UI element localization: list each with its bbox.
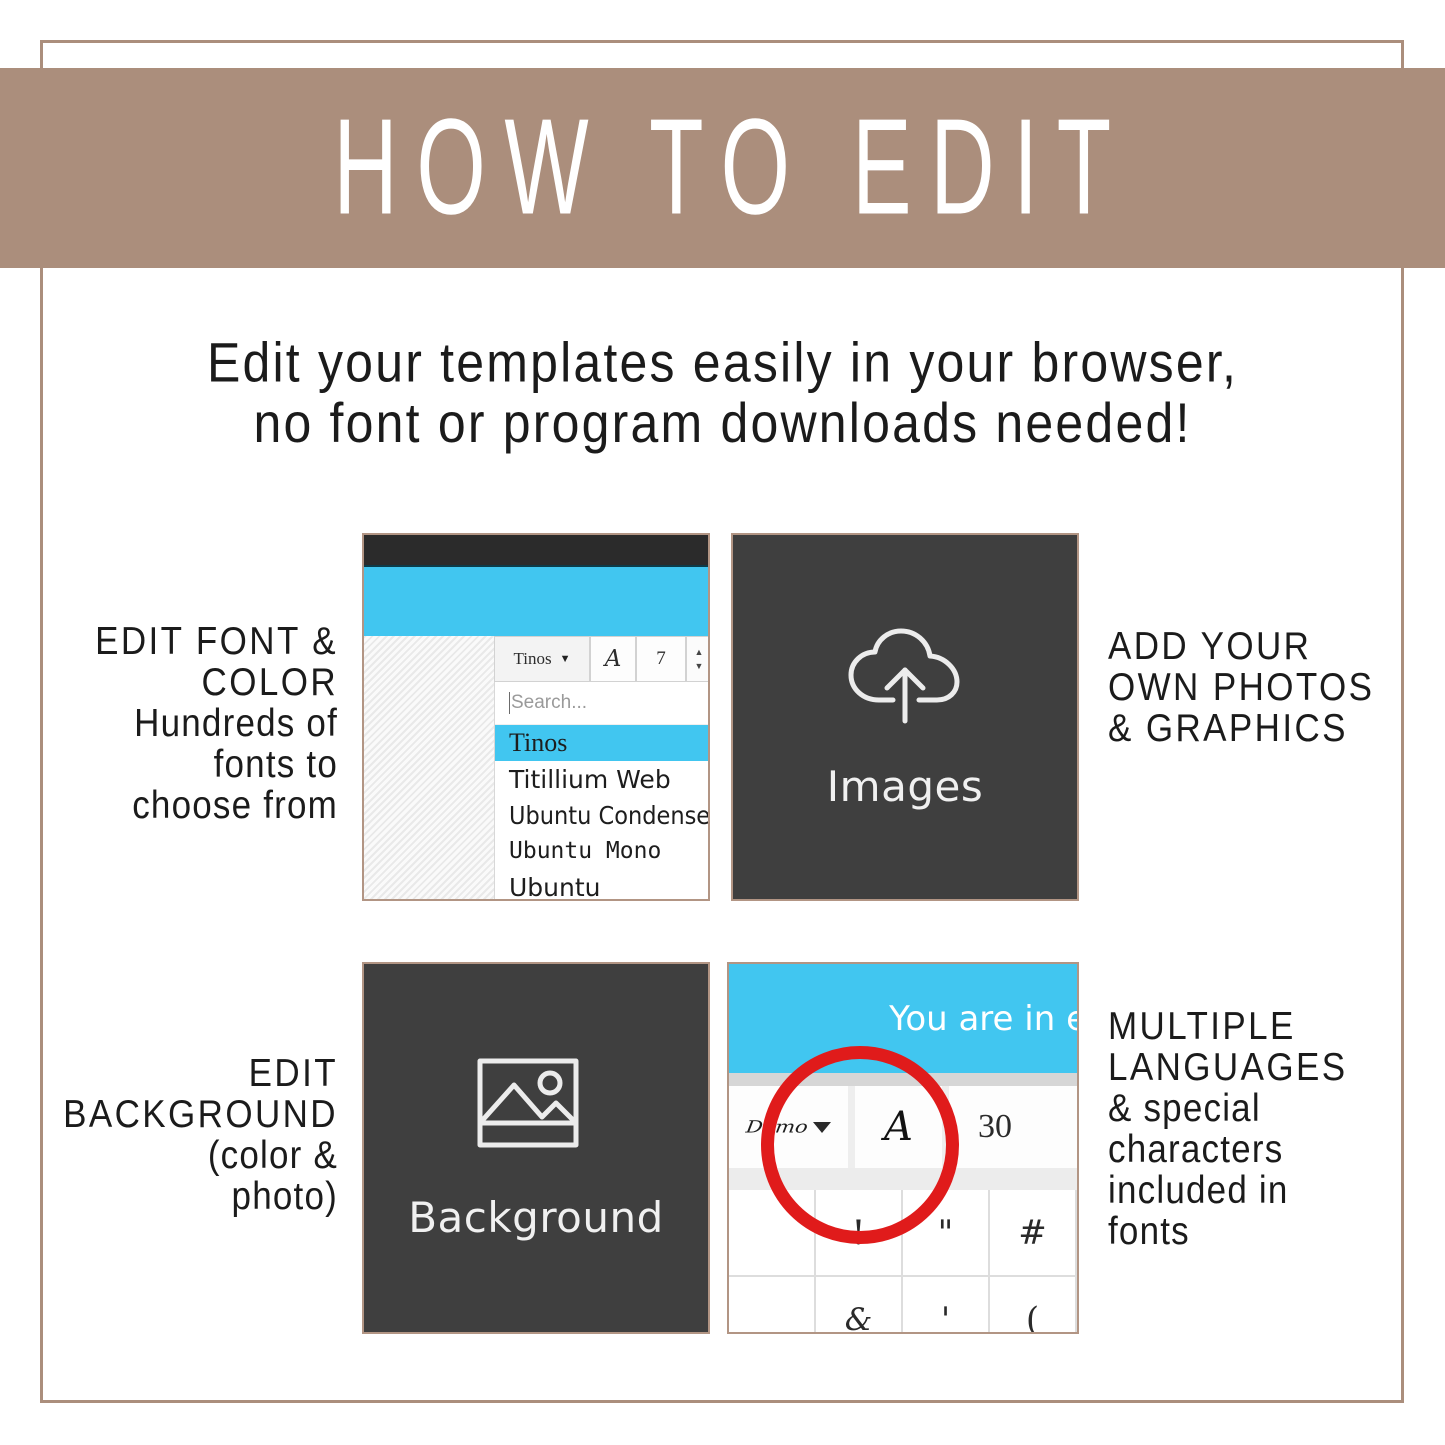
editor-top-bar (364, 535, 708, 565)
glyph-cell[interactable]: & (816, 1277, 903, 1334)
background-tool-button[interactable]: Background (364, 964, 708, 1332)
page-title: HOW TO EDIT (315, 100, 1130, 236)
font-size-input[interactable]: 30 (949, 1086, 1041, 1168)
font-family-value: Tinos (513, 649, 551, 669)
caption-line-5: included in (1108, 1169, 1418, 1214)
red-circle-highlight-annotation (761, 1046, 959, 1244)
font-search-placeholder: Search... (511, 692, 587, 714)
caption-heading-line-1: EDIT FONT & (28, 620, 338, 665)
notification-banner-text: You are in e (889, 999, 1079, 1039)
caption-line-3: (color & (28, 1134, 338, 1179)
cloud-upload-icon (841, 624, 969, 728)
caption-line-3: & GRAPHICS (1108, 707, 1438, 752)
editor-toolbar: Tinos ▼ A 7 ▲ ▼ (494, 636, 710, 682)
images-tool-screenshot: Images (731, 533, 1079, 901)
font-size-input[interactable]: 7 (636, 636, 686, 682)
caption-line-1: MULTIPLE (1108, 1005, 1418, 1050)
font-option-ubuntu-mono[interactable]: Ubuntu Mono (495, 833, 710, 869)
picture-icon (472, 1055, 600, 1159)
header-band: HOW TO EDIT (0, 68, 1445, 268)
caption-body-line-2: fonts to (28, 743, 338, 788)
text-caret (509, 692, 510, 714)
glyph-cell[interactable]: ( (990, 1277, 1077, 1334)
glyph-cell[interactable]: # (990, 1190, 1077, 1277)
caption-body-line-3: choose from (28, 784, 338, 829)
subtitle-line-1: Edit your templates easily in your brows… (60, 332, 1385, 392)
background-tool-screenshot: Background (362, 962, 710, 1334)
images-tool-label: Images (827, 762, 983, 811)
caption-heading-line-2: COLOR (28, 661, 338, 706)
chevron-down-icon: ▼ (560, 653, 571, 665)
editor-accent-band (364, 565, 708, 636)
caption-body-line-1: Hundreds of (28, 702, 338, 747)
font-size-stepper[interactable]: ▲ ▼ (686, 636, 710, 682)
caption-line-2: BACKGROUND (28, 1093, 338, 1138)
font-list-dropdown: Search... Tinos Titillium Web Ubuntu Con… (494, 682, 710, 901)
editor-canvas-area: Tinos ▼ A 7 ▲ ▼ Search... Tinos Titilliu… (364, 636, 708, 899)
caption-line-2: LANGUAGES (1108, 1046, 1418, 1091)
subtitle-line-2: no font or program downloads needed! (60, 392, 1385, 452)
font-option-tinos[interactable]: Tinos (495, 725, 710, 761)
caption-line-3: & special (1108, 1087, 1418, 1132)
caption-line-1: EDIT (28, 1052, 338, 1097)
subtitle: Edit your templates easily in your brows… (60, 332, 1385, 453)
font-option-ubuntu[interactable]: Ubuntu (495, 869, 710, 901)
caption-edit-background: EDIT BACKGROUND (color & photo) (28, 1052, 338, 1216)
caption-edit-font-color: EDIT FONT & COLOR Hundreds of fonts to c… (28, 620, 338, 825)
stepper-up-icon[interactable]: ▲ (695, 648, 704, 657)
script-a-icon[interactable]: A (590, 636, 636, 682)
stepper-down-icon[interactable]: ▼ (695, 662, 704, 671)
font-family-dropdown[interactable]: Tinos ▼ (494, 636, 590, 682)
special-characters-screenshot: You are in e Demo A 30 ! " # & ' ( (727, 962, 1079, 1334)
caption-multiple-languages: MULTIPLE LANGUAGES & special characters … (1108, 1005, 1418, 1251)
font-option-titillium-web[interactable]: Titillium Web (495, 761, 710, 797)
caption-line-6: fonts (1108, 1210, 1418, 1255)
caption-line-4: characters (1108, 1128, 1418, 1173)
glyph-cell[interactable]: ' (903, 1277, 990, 1334)
caption-line-1: ADD YOUR (1108, 625, 1438, 670)
background-tool-label: Background (408, 1193, 664, 1242)
caption-add-photos: ADD YOUR OWN PHOTOS & GRAPHICS (1108, 625, 1438, 748)
caption-line-4: photo) (28, 1175, 338, 1220)
glyph-cell[interactable] (729, 1277, 816, 1334)
poster-canvas: HOW TO EDIT Edit your templates easily i… (0, 0, 1445, 1445)
font-search-input[interactable]: Search... (495, 682, 710, 725)
font-option-ubuntu-condensed[interactable]: Ubuntu Condensed (495, 797, 710, 833)
images-tool-button[interactable]: Images (733, 535, 1077, 899)
caption-line-2: OWN PHOTOS (1108, 666, 1438, 711)
font-editor-screenshot: Tinos ▼ A 7 ▲ ▼ Search... Tinos Titilliu… (362, 533, 710, 901)
